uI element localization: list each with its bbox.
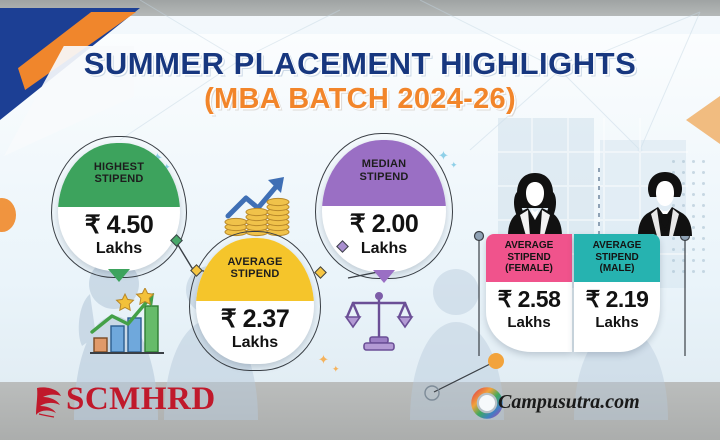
avatar-divider [596,168,602,240]
badge-value: ₹ 2.37 [196,304,314,334]
badge-value: ₹ 4.50 [58,210,180,240]
badge-unit: Lakhs [196,334,314,352]
male-avatar-icon [636,170,694,236]
female-avatar-icon [506,170,564,236]
card-unit: Lakhs [486,314,572,331]
badge-label: MEDIAN STIPEND [322,158,446,183]
scmhrd-emblem-icon [34,384,64,418]
badge-label: AVERAGE STIPEND [196,256,314,281]
card-label: AVERAGE STIPEND (FEMALE) [486,240,572,275]
connector-line-male-card [672,230,698,360]
sparkle-4: ✦ [450,160,458,171]
card-average-stipend-male[interactable]: AVERAGE STIPEND (MALE) ₹ 2.19 Lakhs [574,234,660,352]
card-value: ₹ 2.19 [574,286,660,313]
title-block: SUMMER PLACEMENT HIGHLIGHTS (MBA BATCH 2… [0,48,720,116]
page-title: SUMMER PLACEMENT HIGHLIGHTS [0,48,720,80]
badge-body: MEDIAN STIPEND ₹ 2.00 Lakhs [322,140,446,272]
badge-pointer [373,270,395,283]
card-average-stipend-female[interactable]: AVERAGE STIPEND (FEMALE) ₹ 2.58 Lakhs [486,234,572,352]
campusutra-wordmark: Campusutra.com [498,391,640,414]
card-value: ₹ 2.58 [486,286,572,313]
page-subtitle: (MBA BATCH 2024-26) [0,83,720,116]
badge-average-stipend[interactable]: AVERAGE STIPEND ₹ 2.37 Lakhs [196,238,314,364]
scmhrd-wordmark: SCMHRD [66,381,216,418]
coins-growth-arrow-icon [218,168,296,240]
sparkle-5: ✦ [318,352,329,368]
badge-value: ₹ 2.00 [322,209,446,239]
badge-unit: Lakhs [58,240,180,258]
badge-pointer [108,269,130,282]
card-unit: Lakhs [574,314,660,331]
badge-body: AVERAGE STIPEND ₹ 2.37 Lakhs [196,238,314,364]
badge-body: HIGHEST STIPEND ₹ 4.50 Lakhs [58,143,180,271]
sparkle-6: ✦ [332,364,340,375]
card-label: AVERAGE STIPEND (MALE) [574,240,660,275]
badge-label: HIGHEST STIPEND [58,161,180,186]
badge-highest-stipend[interactable]: HIGHEST STIPEND ₹ 4.50 Lakhs [58,143,180,271]
badge-median-stipend[interactable]: MEDIAN STIPEND ₹ 2.00 Lakhs [322,140,446,272]
balance-scale-icon [344,286,414,354]
infographic-canvas: SUMMER PLACEMENT HIGHLIGHTS (MBA BATCH 2… [0,0,720,440]
bar-chart-stars-icon [84,288,168,360]
